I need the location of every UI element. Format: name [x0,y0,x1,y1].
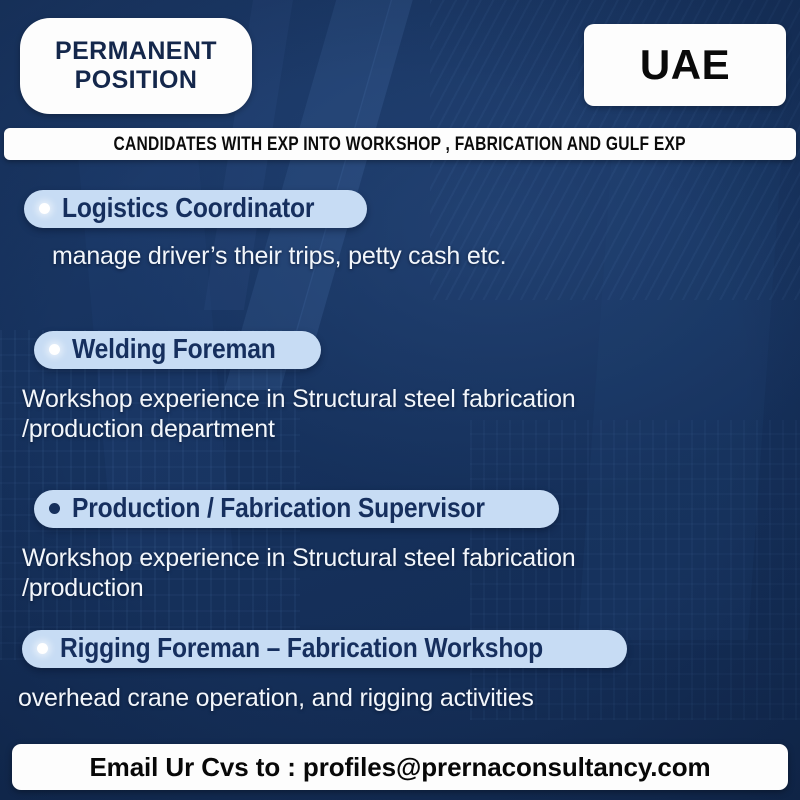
job-description-line: manage driver’s their trips, petty cash … [52,242,800,272]
headline-banner: CANDIDATES WITH EXP INTO WORKSHOP , FABR… [4,128,796,160]
permanent-position-line1: PERMANENT [55,37,217,67]
job-description-line: /production [22,574,800,604]
bullet-icon [39,203,50,214]
permanent-position-line2: POSITION [75,66,198,96]
job-entry-production-fabrication-supervisor: Production / Fabrication Supervisor Work… [0,490,800,603]
job-title-pill: Welding Foreman [34,331,321,369]
country-badge: UAE [584,24,786,106]
bullet-icon [49,344,60,355]
job-entry-rigging-foreman: Rigging Foreman – Fabrication Workshop o… [0,630,800,714]
job-entry-logistics-coordinator: Logistics Coordinator manage driver’s th… [0,190,800,272]
job-title-text: Production / Fabrication Supervisor [72,492,485,524]
contact-footer-bar: Email Ur Cvs to : profiles@prernaconsult… [12,744,788,790]
country-badge-label: UAE [640,41,730,89]
job-description-line: overhead crane operation, and rigging ac… [18,684,800,714]
headline-text: CANDIDATES WITH EXP INTO WORKSHOP , FABR… [114,133,686,156]
bullet-icon [37,643,48,654]
job-title-pill: Production / Fabrication Supervisor [34,490,559,528]
recruitment-poster: PERMANENT POSITION UAE CANDIDATES WITH E… [0,0,800,800]
job-title-pill: Rigging Foreman – Fabrication Workshop [22,630,627,668]
job-title-text: Logistics Coordinator [62,192,314,224]
contact-email-text: Email Ur Cvs to : profiles@prernaconsult… [89,752,710,783]
permanent-position-badge: PERMANENT POSITION [20,18,252,114]
job-title-pill: Logistics Coordinator [24,190,367,228]
job-title-text: Rigging Foreman – Fabrication Workshop [60,632,543,664]
job-description-line: Workshop experience in Structural steel … [22,385,800,415]
bullet-icon [49,503,60,514]
job-title-text: Welding Foreman [72,333,276,365]
job-entry-welding-foreman: Welding Foreman Workshop experience in S… [0,331,800,444]
job-description-line: Workshop experience in Structural steel … [22,544,800,574]
job-description-line: /production department [22,415,800,445]
